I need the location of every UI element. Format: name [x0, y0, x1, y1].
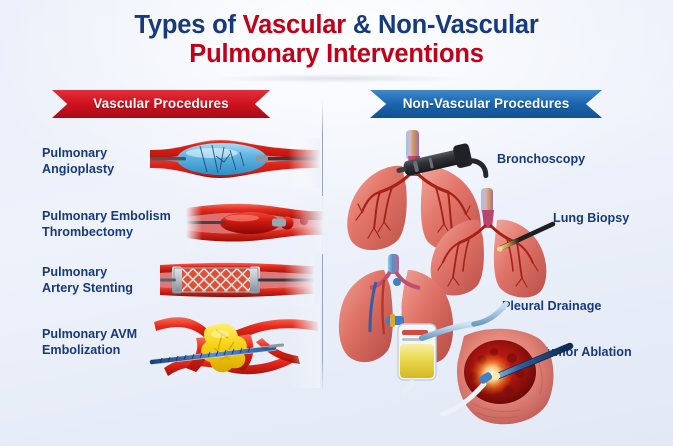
bag-label-line	[402, 338, 422, 341]
label-pulmonary-artery-stenting: Pulmonary Artery Stenting	[42, 264, 133, 296]
title-segment-vascular: Vascular	[243, 11, 346, 39]
tube-connector-top	[393, 278, 401, 286]
label-pulmonary-avm-embolization: Pulmonary AVM Embolization	[42, 326, 137, 358]
stent-delivery-wire-left	[160, 279, 176, 282]
infographic-poster: Types of Vascular & Non-Vascular Pulmona…	[0, 0, 673, 446]
pleural-catheter-leader	[474, 304, 506, 324]
stent-mesh-pattern	[174, 268, 258, 292]
probe-tip	[492, 372, 500, 380]
needle-point	[497, 246, 502, 251]
title-shadow	[212, 74, 462, 83]
illustration-pulmonary-angioplasty	[150, 132, 320, 194]
fade-mask	[288, 138, 320, 188]
label-pulmonary-embolism-thrombectomy: Pulmonary Embolism Thrombectomy	[42, 208, 171, 240]
catheter-shaft-left	[150, 157, 186, 160]
label-pulmonary-angioplasty: Pulmonary Angioplasty	[42, 145, 114, 177]
bronchoscope-cable	[470, 158, 486, 178]
fade-mask-right	[292, 196, 324, 254]
label-pleural-drainage: Pleural Drainage	[502, 298, 601, 314]
balloon-highlight	[186, 148, 238, 158]
fade-mask-left	[186, 196, 202, 254]
illustration-pulmonary-avm-embolization	[150, 304, 320, 388]
avm-highlight	[211, 330, 229, 338]
bag-outlet-tube	[402, 380, 412, 392]
banner-non-vascular-procedures: Non-Vascular Procedures	[370, 90, 602, 118]
fade-mask	[284, 254, 315, 306]
trachea-upper	[388, 254, 399, 274]
catheter-marker	[256, 156, 268, 163]
clot-highlight	[225, 215, 259, 222]
title-segment-types-of: Types of	[134, 11, 242, 39]
label-bronchoscopy: Bronchoscopy	[497, 151, 585, 167]
title-segment-non-vascular: & Non-Vascular	[346, 11, 539, 39]
label-lung-biopsy: Lung Biopsy	[553, 210, 629, 226]
bag-fluid	[400, 344, 434, 378]
title-line-2: Pulmonary Interventions	[0, 40, 673, 69]
trachea-upper	[406, 130, 419, 160]
illustration-pulmonary-artery-stenting	[160, 252, 315, 308]
illustration-pulmonary-embolism-thrombectomy	[186, 196, 324, 254]
tube-valve	[390, 314, 395, 327]
page-title: Types of Vascular & Non-Vascular Pulmona…	[0, 11, 673, 68]
fade-mask	[292, 304, 320, 388]
title-line-1: Types of Vascular & Non-Vascular	[0, 11, 673, 40]
banner-vascular-procedures: Vascular Procedures	[52, 90, 270, 118]
illustration-tumor-ablation	[442, 322, 577, 434]
catheter-tip-collar	[272, 219, 286, 227]
